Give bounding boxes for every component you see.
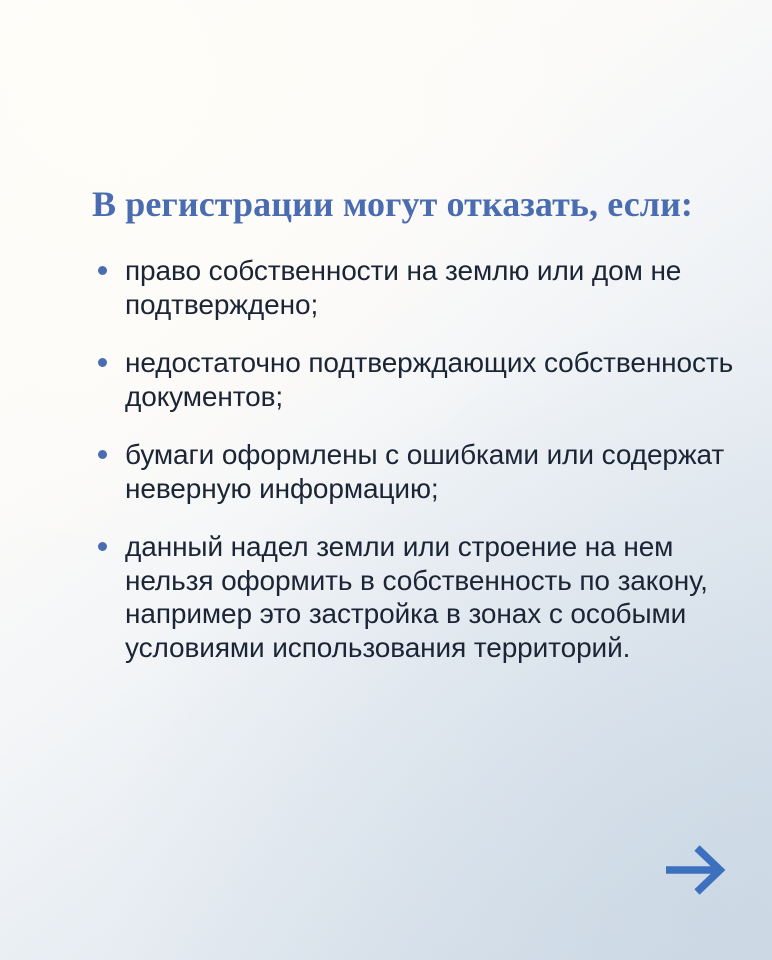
page-title: В регистрации могут отказать, если:: [92, 182, 712, 226]
list-item: бумаги оформлены с ошибками или содержат…: [92, 438, 736, 505]
slide-content: В регистрации могут отказать, если: прав…: [92, 182, 736, 664]
list-item-label: данный надел земли или строение на нем н…: [125, 530, 736, 664]
list-item: право собственности на землю или дом не …: [92, 254, 736, 321]
bullet-dot-icon: [98, 266, 107, 275]
bullet-dot-icon: [98, 358, 107, 367]
bullet-dot-icon: [98, 450, 107, 459]
list-item: данный надел земли или строение на нем н…: [92, 530, 736, 664]
list-item-label: бумаги оформлены с ошибками или содержат…: [125, 438, 736, 505]
next-slide-button[interactable]: [660, 838, 732, 902]
list-item: недостаточно подтверждающих собственност…: [92, 346, 736, 413]
list-item-label: недостаточно подтверждающих собственност…: [125, 346, 736, 413]
slide-canvas: В регистрации могут отказать, если: прав…: [0, 0, 772, 960]
arrow-right-icon: [660, 838, 732, 902]
reasons-list: право собственности на землю или дом не …: [92, 254, 736, 664]
bullet-dot-icon: [98, 542, 107, 551]
list-item-label: право собственности на землю или дом не …: [125, 254, 736, 321]
